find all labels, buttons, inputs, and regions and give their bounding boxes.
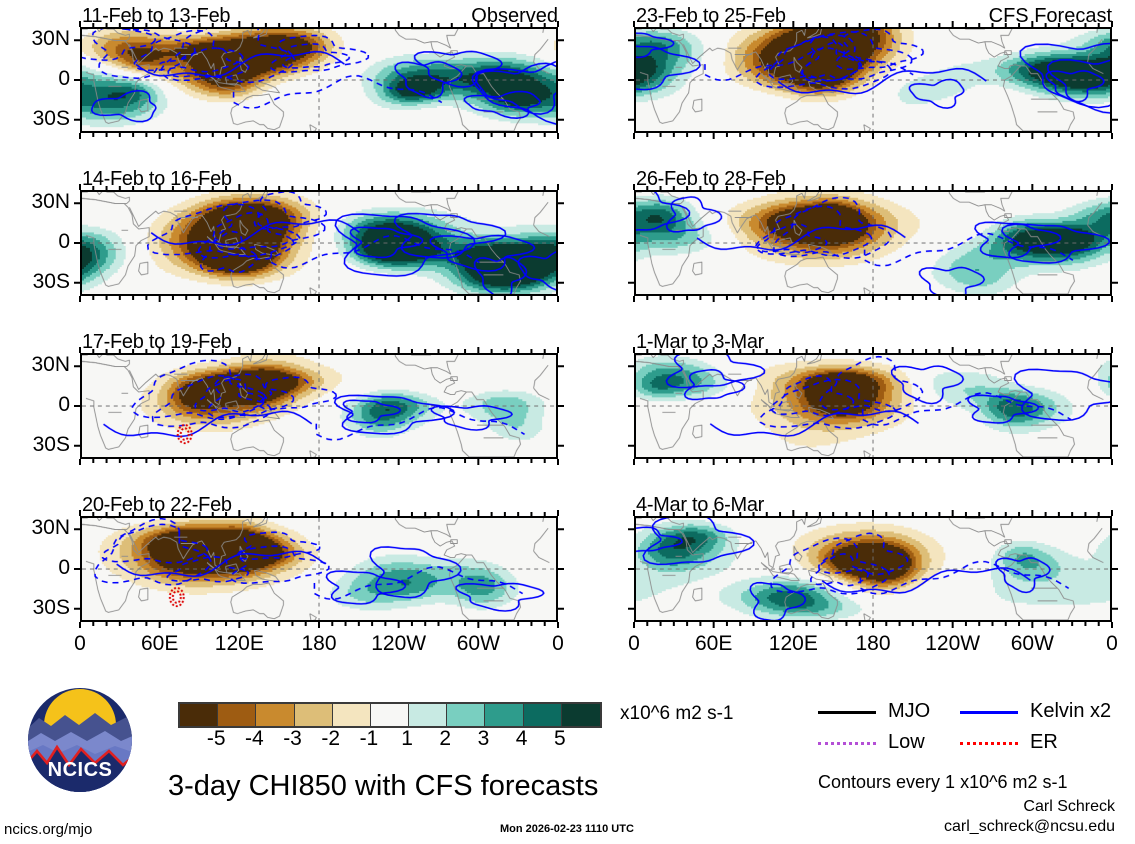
- legend-line-er: [960, 742, 1018, 745]
- map-panel-5[interactable]: [634, 27, 1112, 133]
- y-axis-label-30n: 30N: [4, 190, 70, 214]
- x-axis-label-1-5: 60W: [992, 632, 1072, 656]
- legend-line-kelvin-x2: [960, 711, 1018, 714]
- colorbar-swatch-8[interactable]: [485, 704, 523, 726]
- y-axis-label-30n: 30N: [4, 516, 70, 540]
- colorbar-tick-5: 5: [538, 727, 582, 751]
- map-field-3: [82, 355, 556, 457]
- mjo-figure: 11-Feb to 13-Feb30N030S14-Feb to 16-Feb3…: [0, 0, 1135, 844]
- x-axis-label-0-0: 0: [40, 632, 120, 656]
- ncics-logo[interactable]: NCICS: [25, 685, 135, 795]
- column-label-2: CFS Forecast: [634, 5, 1112, 28]
- map-panel-7[interactable]: [634, 353, 1112, 459]
- legend-label-low: Low: [888, 731, 925, 754]
- colorbar-swatch-9[interactable]: [524, 704, 562, 726]
- panel-title-2: 14-Feb to 16-Feb: [82, 168, 232, 191]
- y-axis-label-30s: 30S: [4, 270, 70, 294]
- y-axis-label-30s: 30S: [4, 596, 70, 620]
- panel-title-4: 20-Feb to 22-Feb: [82, 494, 232, 517]
- ncics-logo-text: NCICS: [25, 759, 135, 782]
- colorbar-swatch-1[interactable]: [218, 704, 256, 726]
- site-url[interactable]: ncics.org/mjo: [4, 821, 92, 838]
- panel-title-6: 26-Feb to 28-Feb: [636, 168, 786, 191]
- y-axis-label-30n: 30N: [4, 27, 70, 51]
- x-axis-label-1-6: 0: [1072, 632, 1135, 656]
- x-axis-label-1-2: 120E: [753, 632, 833, 656]
- panel-title-8: 4-Mar to 6-Mar: [636, 494, 764, 517]
- y-axis-label-30n: 30N: [4, 353, 70, 377]
- x-axis-label-1-0: 0: [594, 632, 674, 656]
- x-axis-label-0-2: 120E: [199, 632, 279, 656]
- y-axis-label-30s: 30S: [4, 433, 70, 457]
- map-panel-6[interactable]: [634, 190, 1112, 296]
- author-email: carl_schreck@ncsu.edu: [815, 818, 1115, 836]
- y-axis-label-0: 0: [4, 556, 70, 580]
- legend-line-low: [818, 742, 876, 745]
- colorbar-swatch-0[interactable]: [180, 704, 218, 726]
- map-field-4: [82, 518, 556, 620]
- x-axis-label-1-1: 60E: [674, 632, 754, 656]
- x-axis-label-0-6: 0: [518, 632, 598, 656]
- legend-line-mjo: [818, 711, 876, 714]
- panel-title-7: 1-Mar to 3-Mar: [636, 331, 764, 354]
- timestamp: Mon 2026-02-23 1110 UTC: [500, 823, 634, 835]
- column-label-1: Observed: [80, 5, 558, 28]
- colorbar[interactable]: [178, 702, 602, 728]
- map-field-6: [636, 192, 1110, 294]
- map-field-2: [82, 192, 556, 294]
- map-panel-2[interactable]: [80, 190, 558, 296]
- colorbar-units: x10^6 m2 s-1: [620, 703, 733, 725]
- map-panel-8[interactable]: [634, 516, 1112, 622]
- map-field-5: [636, 29, 1110, 131]
- colorbar-swatch-5[interactable]: [371, 704, 409, 726]
- colorbar-swatch-7[interactable]: [447, 704, 485, 726]
- colorbar-swatch-4[interactable]: [333, 704, 371, 726]
- map-panel-1[interactable]: [80, 27, 558, 133]
- x-axis-label-1-3: 180: [833, 632, 913, 656]
- legend-label-kelvin-x2: Kelvin x2: [1030, 700, 1111, 723]
- x-axis-label-0-5: 60W: [438, 632, 518, 656]
- panel-title-3: 17-Feb to 19-Feb: [82, 331, 232, 354]
- y-axis-label-0: 0: [4, 67, 70, 91]
- contour-note: Contours every 1 x10^6 m2 s-1: [818, 772, 1068, 793]
- map-panel-3[interactable]: [80, 353, 558, 459]
- author-name: Carl Schreck: [815, 798, 1115, 816]
- x-axis-label-1-4: 120W: [913, 632, 993, 656]
- colorbar-swatch-10[interactable]: [562, 704, 600, 726]
- colorbar-swatch-3[interactable]: [295, 704, 333, 726]
- legend-label-er: ER: [1030, 731, 1058, 754]
- map-field-7: [636, 355, 1110, 457]
- y-axis-label-0: 0: [4, 393, 70, 417]
- y-axis-label-0: 0: [4, 230, 70, 254]
- legend-label-mjo: MJO: [888, 700, 930, 723]
- x-axis-label-0-3: 180: [279, 632, 359, 656]
- colorbar-swatch-6[interactable]: [409, 704, 447, 726]
- x-axis-label-0-4: 120W: [359, 632, 439, 656]
- map-field-8: [636, 518, 1110, 620]
- map-panel-4[interactable]: [80, 516, 558, 622]
- map-field-1: [82, 29, 556, 131]
- colorbar-swatch-2[interactable]: [256, 704, 294, 726]
- x-axis-label-0-1: 60E: [120, 632, 200, 656]
- main-title: 3-day CHI850 with CFS forecasts: [168, 770, 598, 803]
- y-axis-label-30s: 30S: [4, 107, 70, 131]
